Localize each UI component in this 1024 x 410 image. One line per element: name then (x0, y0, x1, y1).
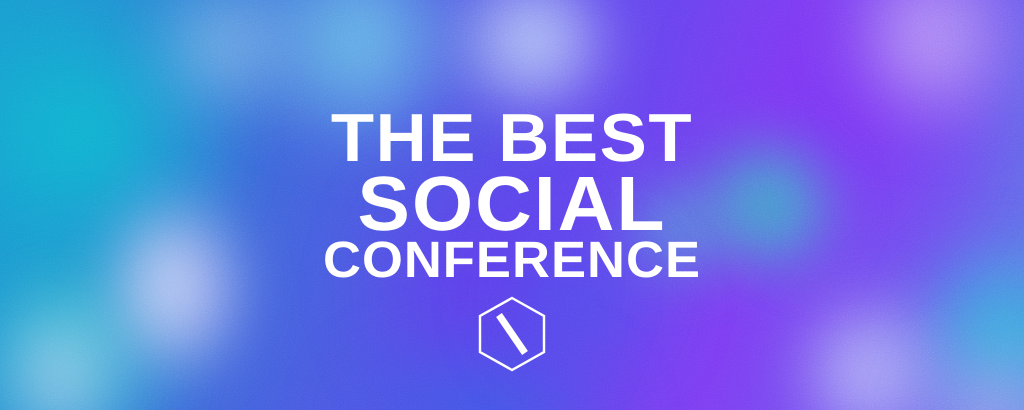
headline-line-3: CONFERENCE (0, 234, 1024, 285)
hexagon-logo (476, 296, 548, 372)
diagonal-slash (499, 315, 525, 353)
conference-poster: THE BEST SOCIAL CONFERENCE (0, 0, 1024, 410)
poster-content: THE BEST SOCIAL CONFERENCE (0, 0, 1024, 410)
hexagon-slash-icon (476, 296, 548, 372)
